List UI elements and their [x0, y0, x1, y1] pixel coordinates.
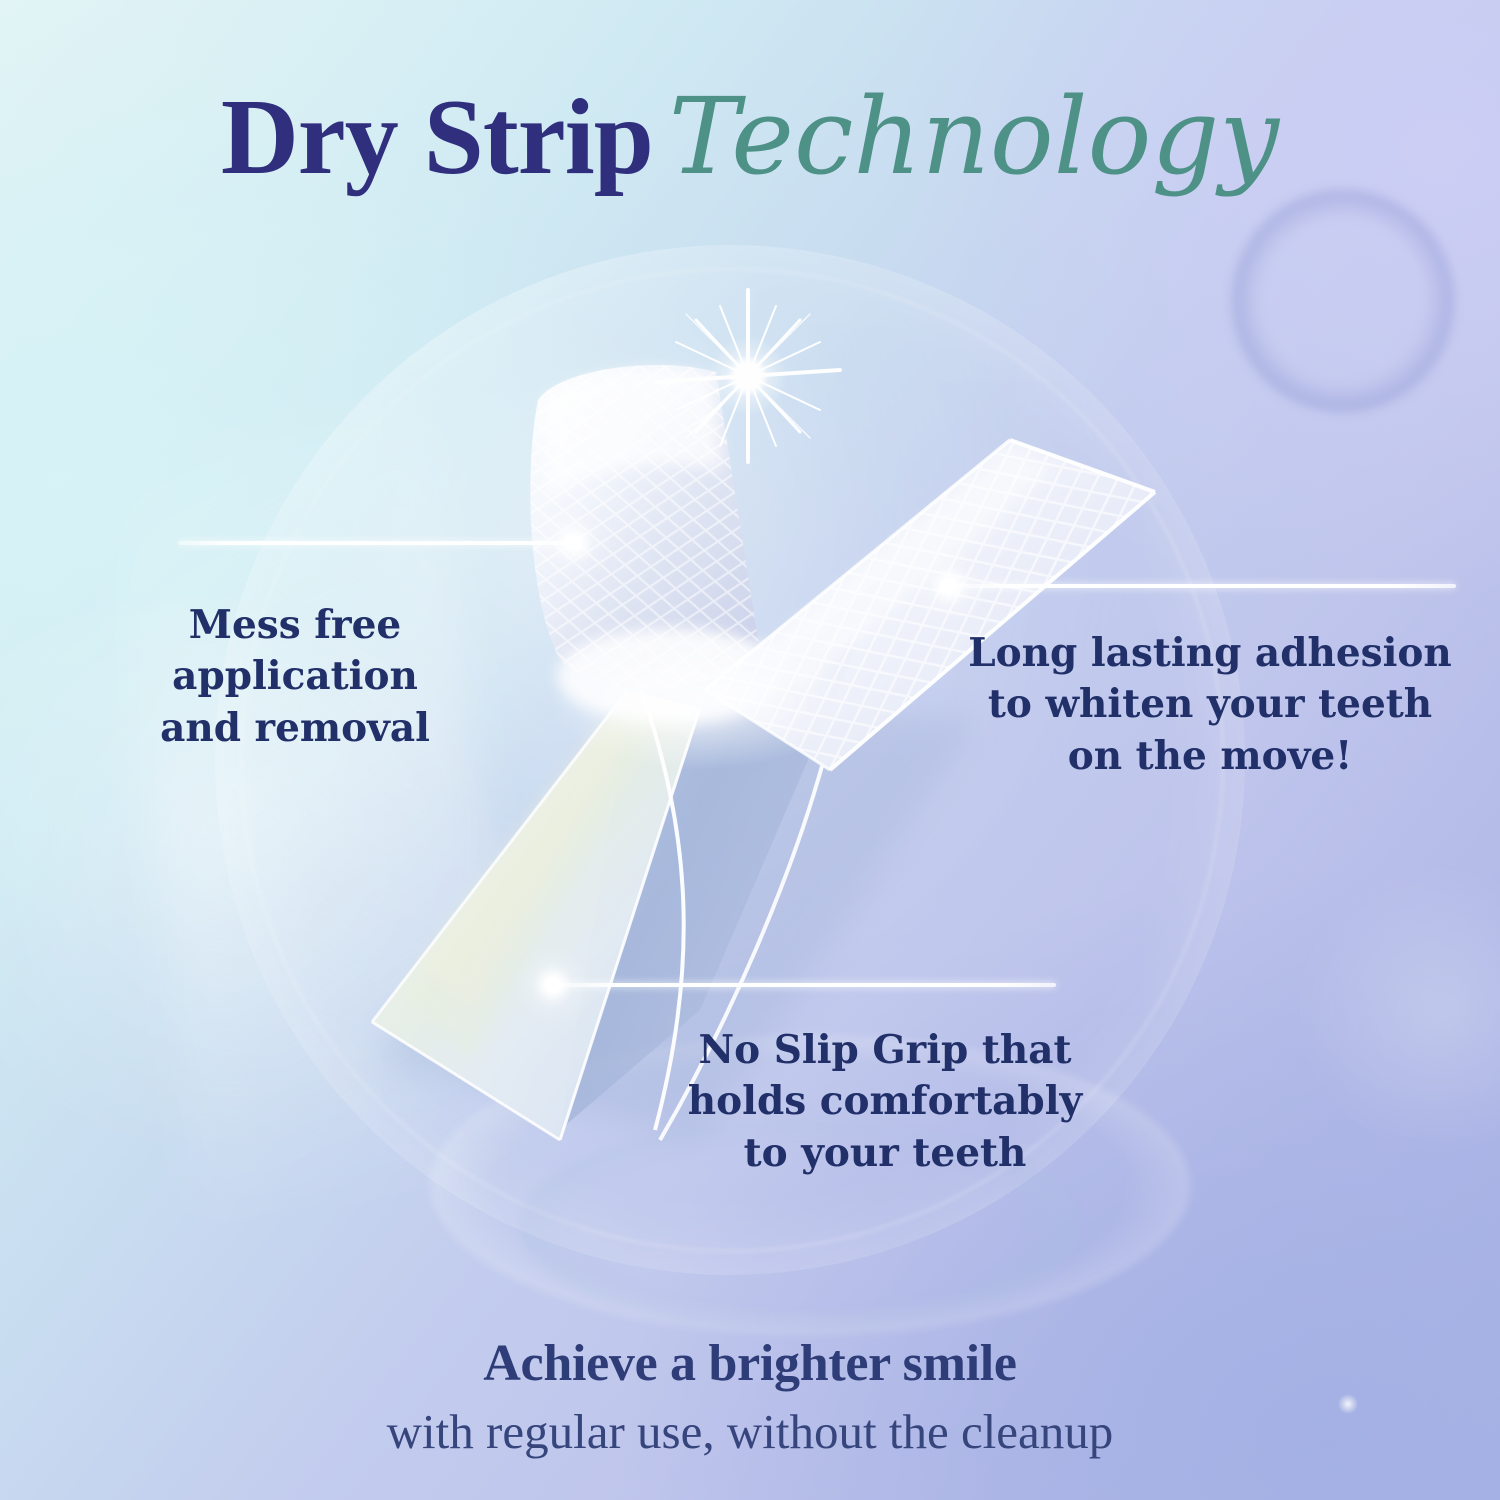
callout-adhesion-line-3: on the move!	[960, 731, 1460, 782]
marker-dot-left	[566, 535, 582, 551]
marker-dot-right	[941, 578, 957, 594]
leader-line-right	[952, 584, 1456, 588]
infographic-poster: Dry StripTechnology	[0, 0, 1500, 1500]
callout-mess-free-line-1: Mess free	[60, 600, 530, 651]
footer-tagline: Achieve a brighter smile with regular us…	[0, 1332, 1500, 1464]
callout-grip-line-2: holds comfortably	[660, 1076, 1110, 1127]
leader-line-left	[178, 541, 578, 545]
footer-line-1: Achieve a brighter smile	[0, 1332, 1500, 1395]
callout-grip-line-1: No Slip Grip that	[660, 1025, 1110, 1076]
page-title: Dry StripTechnology	[0, 84, 1500, 192]
callout-long-lasting-adhesion: Long lasting adhesion to whiten your tee…	[960, 628, 1460, 782]
page-title-bold: Dry Strip	[221, 78, 653, 197]
background-bubble-upper-right	[1232, 190, 1454, 412]
page-title-italic: Technology	[669, 75, 1279, 198]
callout-mess-free-line-2: application	[60, 651, 530, 702]
background-sheen	[105, 413, 525, 1208]
sparkle-icon	[656, 290, 840, 462]
callout-grip-line-3: to your teeth	[660, 1128, 1110, 1179]
background-bubble-right-lower	[1290, 860, 1500, 1160]
callout-mess-free: Mess free application and removal	[60, 600, 530, 754]
callout-adhesion-line-1: Long lasting adhesion	[960, 628, 1460, 679]
callout-mess-free-line-3: and removal	[60, 703, 530, 754]
callout-no-slip-grip: No Slip Grip that holds comfortably to y…	[660, 1025, 1110, 1179]
callout-adhesion-line-2: to whiten your teeth	[960, 679, 1460, 730]
marker-dot-bottom	[545, 977, 561, 993]
leader-line-bottom	[556, 983, 1056, 987]
footer-line-2: with regular use, without the cleanup	[0, 1401, 1500, 1464]
